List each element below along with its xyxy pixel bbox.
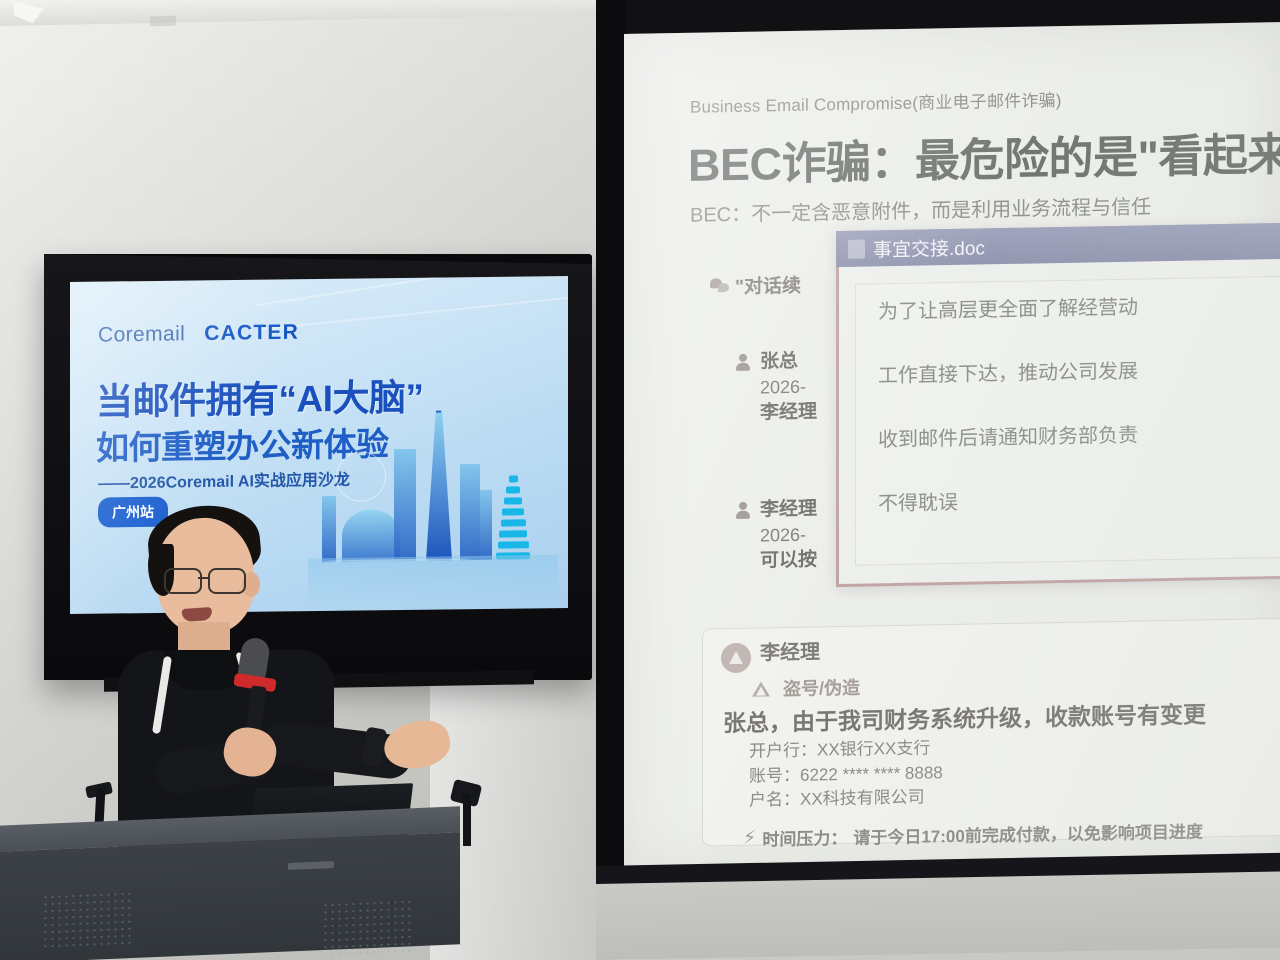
conversation-preview: 可以按	[760, 550, 817, 572]
ceiling-mark	[150, 16, 176, 27]
brand-cacter: CACTER	[204, 321, 299, 346]
warning-triangle-icon	[752, 681, 770, 696]
building	[460, 464, 480, 560]
speaker-grille	[322, 898, 414, 958]
building	[480, 490, 492, 560]
document-body: 为了让高层更全面了解经营动 工作直接下达，推动公司发展 收到邮件后请通知财务部负…	[855, 276, 1280, 566]
conversation-item: 张总 2026- 李经理	[736, 348, 817, 427]
time-pressure-label: 时间压力：	[762, 824, 847, 851]
document-titlebar: 事宜交接.doc	[836, 223, 1280, 268]
slide-subtitle: BEC：不一定含恶意附件，而是利用业务流程与信任	[690, 190, 1151, 227]
phishing-alert-card: 李经理 盗号/伪造 张总，由于我司财务系统升级，收款账号有变更 开户行：XX银行…	[702, 618, 1280, 847]
brand-coremail: Coremail	[98, 322, 185, 347]
document-icon	[848, 239, 865, 258]
speaker-grille	[42, 890, 134, 950]
presentation-photo: Business Email Compromise(商业电子邮件诈骗) BEC诈…	[0, 0, 1280, 960]
conversation-item: 李经理 2026- 可以按	[736, 496, 817, 575]
alert-time-pressure: ⚡ 时间压力： 请于今日17:00前完成付款，以免影响项目进度	[743, 816, 1280, 851]
conversation-preview: 李经理	[760, 402, 817, 424]
glasses	[164, 568, 260, 592]
conversation-sender: 张总	[760, 351, 798, 373]
person-icon	[736, 354, 750, 371]
projection-surface: Business Email Compromise(商业电子邮件诈骗) BEC诈…	[624, 22, 1280, 872]
projection-screen: Business Email Compromise(商业电子邮件诈骗) BEC诈…	[596, 0, 1280, 905]
conversation-date: 2026-	[760, 525, 806, 546]
decor-circle	[336, 451, 386, 502]
document-line: 为了让高层更全面了解经营动	[878, 295, 1280, 323]
speech-bubble-icon	[710, 278, 730, 294]
slide-kicker: Business Email Compromise(商业电子邮件诈骗)	[690, 86, 1062, 118]
conversation-item-text: 李经理 2026- 可以按	[760, 496, 817, 574]
mic-stand-right	[463, 794, 471, 846]
lightning-icon: ⚡	[743, 827, 756, 850]
pagoda-building	[496, 473, 530, 560]
wall-below-screen	[596, 871, 1280, 960]
alert-sender: 李经理	[760, 641, 820, 665]
projection-slide: Business Email Compromise(商业电子邮件诈骗) BEC诈…	[624, 10, 1280, 872]
conversation-heading-label: "对话续	[735, 271, 801, 299]
slide-title: BEC诈骗：最危险的是"看起来	[688, 118, 1280, 194]
document-overlay: 事宜交接.doc 为了让高层更全面了解经营动 工作直接下达，推动公司发展 收到邮…	[836, 222, 1280, 587]
conversation-item-text: 张总 2026- 李经理	[760, 348, 817, 426]
person-icon	[736, 502, 750, 519]
document-filename: 事宜交接.doc	[873, 233, 985, 262]
alert-tag-label: 盗号/伪造	[783, 674, 860, 701]
conversation-heading: "对话续	[710, 271, 801, 300]
projection-left-edge	[596, 0, 626, 905]
conversation-sender: 李经理	[760, 498, 817, 520]
brand-lockup: Coremail CACTER	[98, 321, 299, 348]
document-line: 工作直接下达，推动公司发展	[878, 359, 1280, 387]
conversation-date: 2026-	[760, 377, 806, 398]
document-line: 不得耽误	[878, 487, 1280, 515]
ceiling-crack	[14, 1, 44, 24]
warning-avatar-icon	[721, 643, 751, 674]
time-pressure-text: 请于今日17:00前完成付款，以免影响项目进度	[853, 818, 1202, 849]
document-line: 收到邮件后请通知财务部负责	[878, 423, 1280, 451]
